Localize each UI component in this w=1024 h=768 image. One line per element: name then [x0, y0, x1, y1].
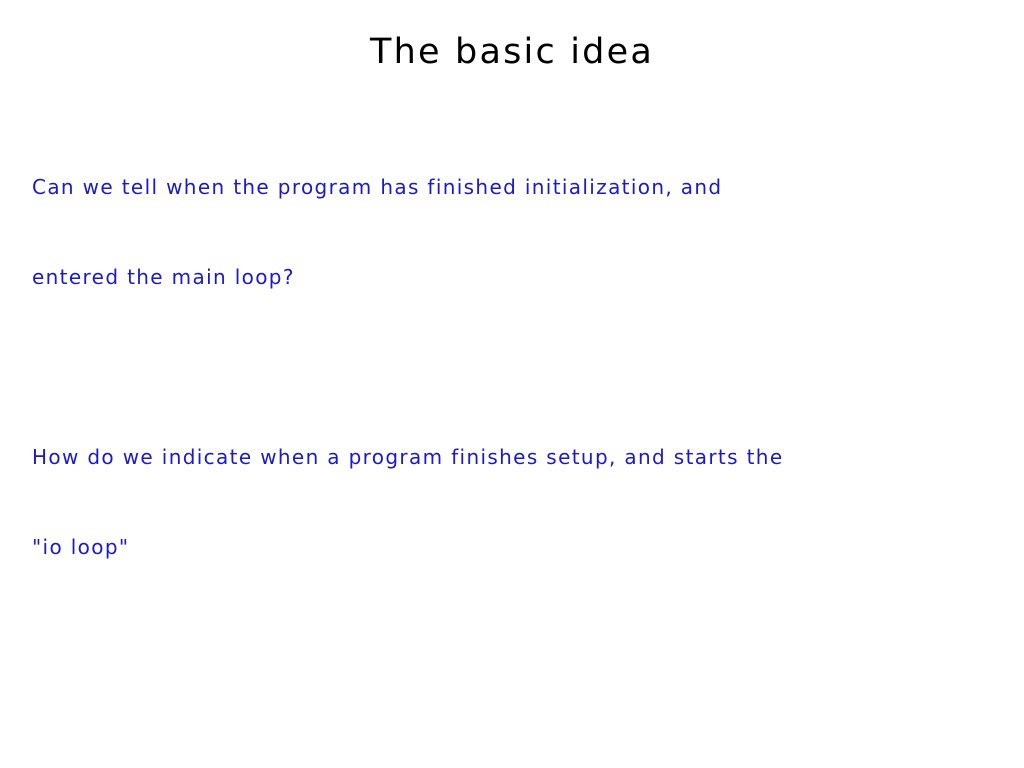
paragraph-question-io-loop: How do we indicate when a program finish…	[32, 382, 982, 622]
paragraph-line: Can we tell when the program has finishe…	[32, 172, 982, 202]
page-title: The basic idea	[0, 30, 1024, 74]
paragraph-question-initialization: Can we tell when the program has finishe…	[32, 112, 982, 352]
paragraph-line: entered the main loop?	[32, 262, 982, 292]
paragraph-line: "io loop"	[32, 532, 982, 562]
paragraph-line: How do we indicate when a program finish…	[32, 442, 982, 472]
slide-body: Can we tell when the program has finishe…	[32, 112, 982, 768]
slide-canvas: The basic idea Can we tell when the prog…	[0, 0, 1024, 768]
